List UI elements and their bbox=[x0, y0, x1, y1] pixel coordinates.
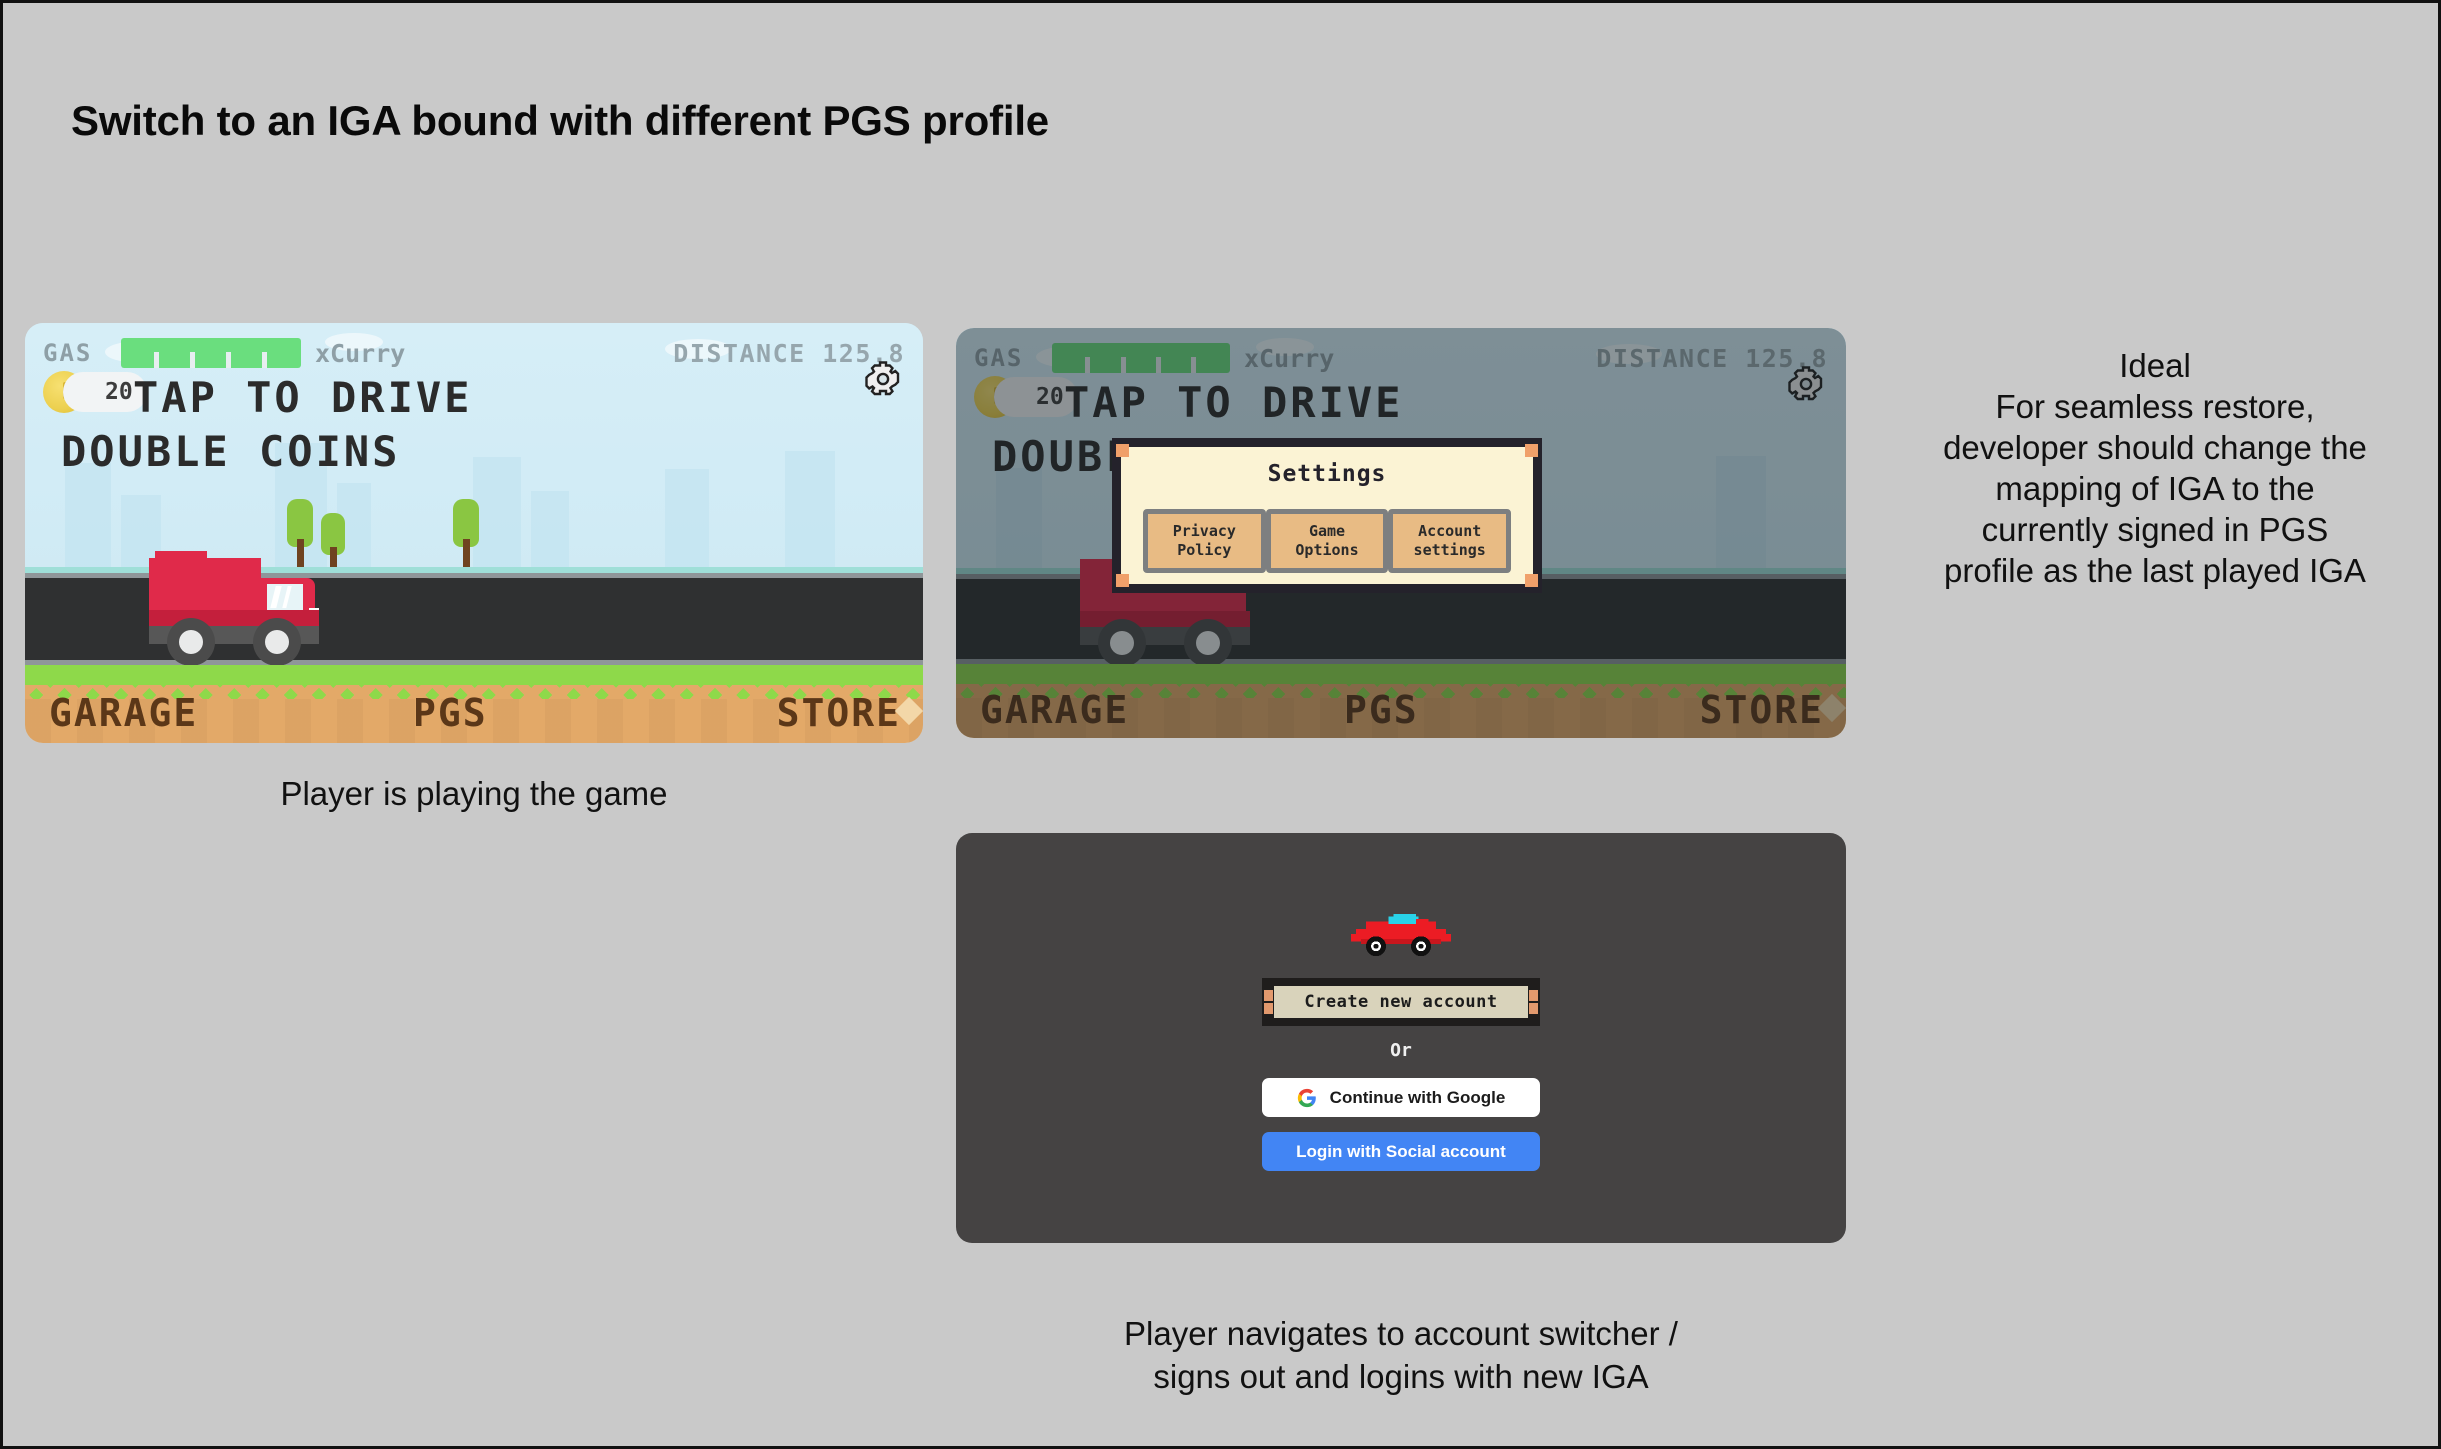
page-title: Switch to an IGA bound with different PG… bbox=[71, 97, 1049, 145]
nav-item-pgs[interactable]: PGS bbox=[1344, 688, 1419, 732]
corner-accent bbox=[1525, 574, 1538, 587]
privacy-policy-button[interactable]: Privacy Policy bbox=[1143, 509, 1266, 573]
corner-accent bbox=[1525, 444, 1538, 457]
create-new-account-button[interactable]: Create new account bbox=[1262, 978, 1540, 1026]
coin-multiplier-label: xCurry bbox=[315, 339, 405, 368]
caption-account-switcher: Player navigates to account switcher / s… bbox=[956, 1313, 1846, 1399]
corner-accent bbox=[1264, 990, 1273, 1001]
gas-label: GAS bbox=[43, 339, 92, 367]
truck-sprite bbox=[149, 548, 339, 668]
pixel-car-icon bbox=[1346, 911, 1456, 959]
building-silhouette bbox=[665, 469, 709, 583]
settings-dialog-title: Settings bbox=[1121, 461, 1533, 487]
settings-button-row: Privacy Policy Game Options Account sett… bbox=[1143, 509, 1511, 573]
gas-label: GAS bbox=[974, 344, 1023, 372]
gas-bar bbox=[1052, 343, 1230, 373]
corner-accent bbox=[1529, 990, 1538, 1001]
nav-item-store[interactable]: STORE bbox=[1700, 688, 1824, 732]
game-screen-playing[interactable]: GAS xCurry DISTANCE 125.8 20 TAP TO DRIV… bbox=[25, 323, 923, 743]
corner-accent bbox=[1264, 1003, 1273, 1014]
building-silhouette bbox=[473, 457, 521, 583]
building-silhouette bbox=[785, 451, 835, 583]
corner-accent bbox=[1529, 1003, 1538, 1014]
building-silhouette bbox=[1716, 456, 1766, 586]
gas-bar bbox=[121, 338, 301, 368]
login-with-social-account-button[interactable]: Login with Social account bbox=[1262, 1132, 1540, 1171]
building-silhouette bbox=[65, 463, 111, 583]
settings-dialog[interactable]: Settings Privacy Policy Game Options Acc… bbox=[1112, 438, 1542, 593]
social-button-label: Login with Social account bbox=[1296, 1142, 1506, 1162]
coin-multiplier-label: xCurry bbox=[1244, 344, 1334, 373]
diagram-canvas: Switch to an IGA bound with different PG… bbox=[0, 0, 2441, 1449]
tap-to-drive-line1: TAP TO DRIVE bbox=[133, 373, 472, 422]
create-account-label: Create new account bbox=[1304, 992, 1497, 1012]
gear-icon[interactable] bbox=[865, 361, 901, 397]
caption-playing: Player is playing the game bbox=[25, 773, 923, 816]
google-logo-icon bbox=[1297, 1088, 1317, 1108]
nav-item-pgs[interactable]: PGS bbox=[413, 691, 488, 735]
tap-to-drive-line1: TAP TO DRIVE bbox=[1064, 378, 1403, 427]
ideal-annotation-text: Ideal For seamless restore, developer sh… bbox=[1865, 346, 2441, 591]
continue-with-google-button[interactable]: Continue with Google bbox=[1262, 1078, 1540, 1117]
game-options-button[interactable]: Game Options bbox=[1266, 509, 1389, 573]
account-switcher-screen[interactable]: Create new account Or Continue with Goog… bbox=[956, 833, 1846, 1243]
nav-item-garage[interactable]: GARAGE bbox=[980, 688, 1129, 732]
corner-accent bbox=[1116, 444, 1129, 457]
google-button-label: Continue with Google bbox=[1330, 1088, 1506, 1108]
tap-to-drive-line2: DOUBLE COINS bbox=[61, 427, 400, 476]
or-divider-label: Or bbox=[956, 1040, 1846, 1061]
nav-item-store[interactable]: STORE bbox=[777, 691, 901, 735]
game-screen-settings[interactable]: GAS xCurry DISTANCE 125.8 20 TAP TO DRIV… bbox=[956, 328, 1846, 738]
corner-accent bbox=[1116, 574, 1129, 587]
account-settings-button[interactable]: Account settings bbox=[1388, 509, 1511, 573]
gear-icon[interactable] bbox=[1788, 366, 1824, 402]
nav-item-garage[interactable]: GARAGE bbox=[49, 691, 198, 735]
